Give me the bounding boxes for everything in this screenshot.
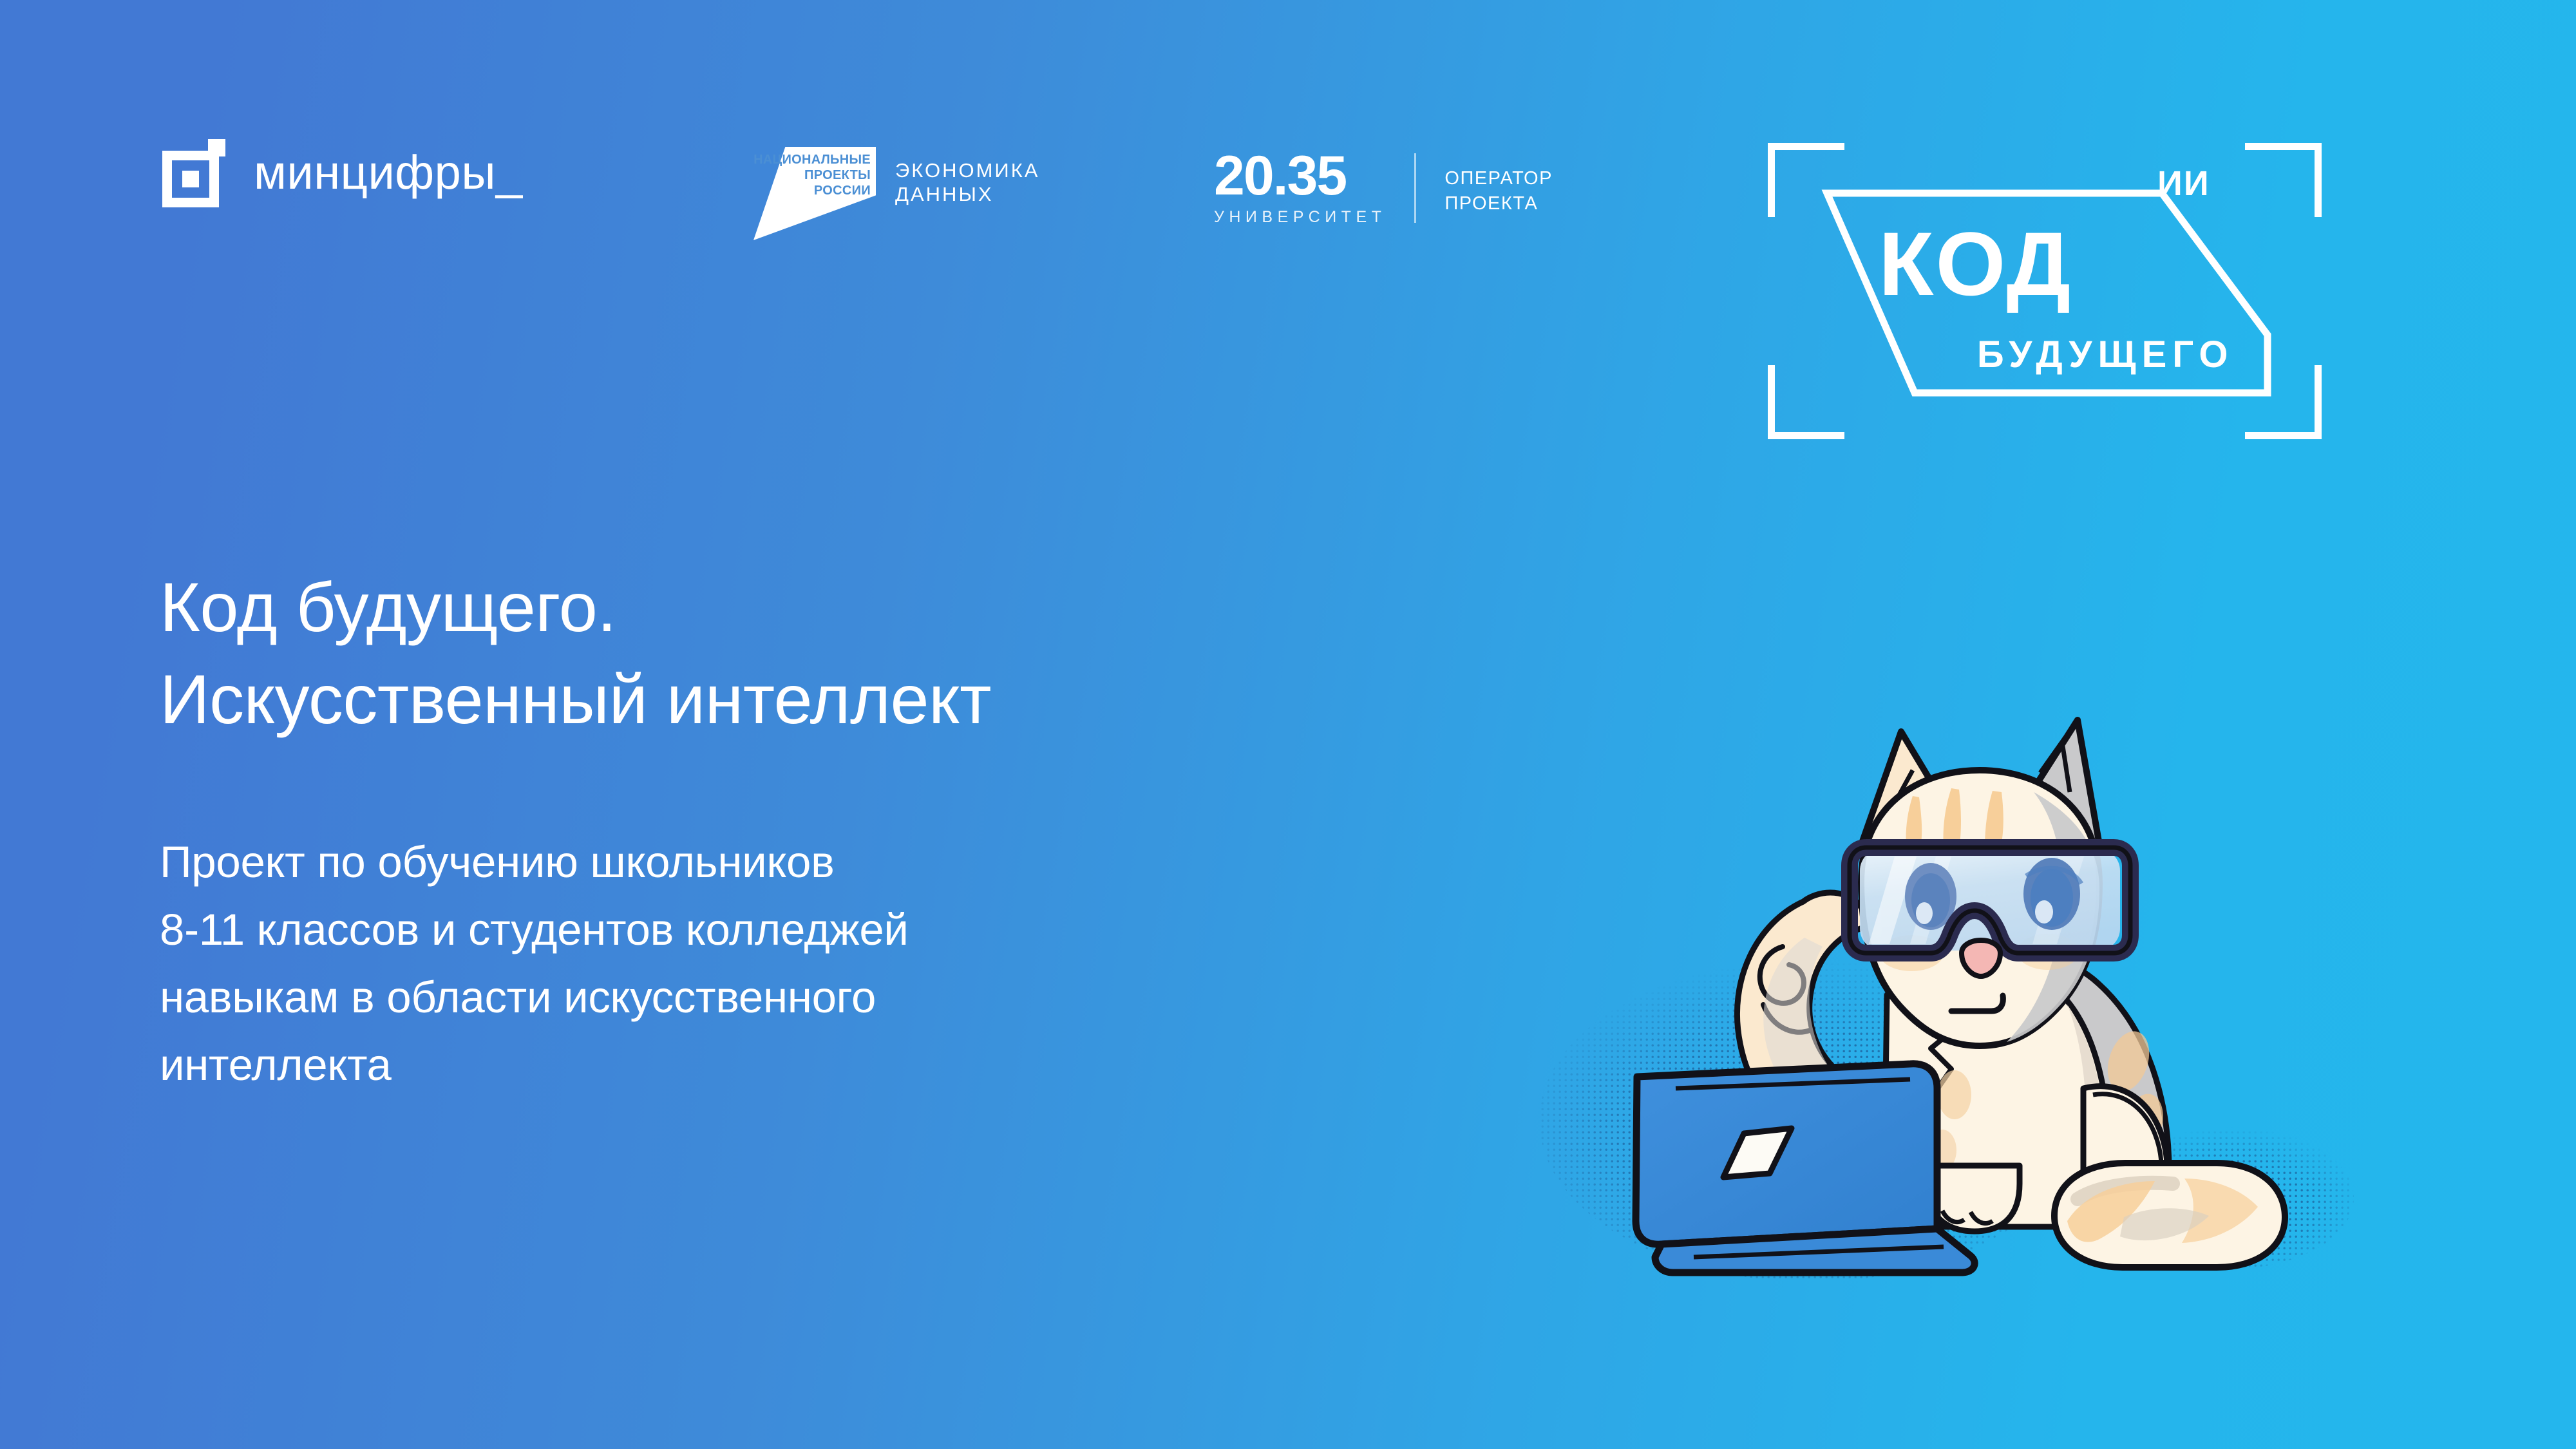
mincifry-square-mark-icon	[162, 139, 229, 206]
logo-divider	[1414, 153, 1416, 223]
university-2035-mark: 20.35 УНИВЕРСИТЕТ	[1214, 151, 1386, 227]
project-operator-caption: ОПЕРАТОР ПРОЕКТА	[1444, 151, 1553, 227]
poster-canvas: минцифры_ НАЦИОНАЛЬНЫЕ ПРОЕКТЫ РОССИИ ЭК…	[0, 0, 2576, 1449]
kod-wordmark: КОД	[1879, 219, 2072, 309]
logo-national-projects[interactable]: НАЦИОНАЛЬНЫЕ ПРОЕКТЫ РОССИИ ЭКОНОМИКА ДА…	[753, 147, 1039, 240]
logo-kod-budushchego[interactable]: КОД БУДУЩЕГО ИИ	[1768, 143, 2322, 439]
economy-of-data-caption: ЭКОНОМИКА ДАННЫХ	[895, 158, 1039, 206]
partner-logo-row: минцифры_ НАЦИОНАЛЬНЫЕ ПРОЕКТЫ РОССИИ ЭК…	[0, 0, 2576, 361]
economy-line-1: ЭКОНОМИКА	[895, 158, 1039, 182]
cat-tail	[2054, 1163, 2285, 1267]
page-title: Код будущего. Искусственный интеллект	[160, 562, 991, 745]
budushchego-wordmark: БУДУЩЕГО	[1977, 336, 2234, 374]
ai-badge: ИИ	[2157, 166, 2210, 201]
mincifry-wordmark: минцифры_	[254, 149, 523, 196]
operator-line-1: ОПЕРАТОР	[1444, 166, 1553, 191]
flag-line-1: НАЦИОНАЛЬНЫЕ	[753, 153, 871, 166]
economy-line-2: ДАННЫХ	[895, 182, 1039, 206]
flag-line-2: ПРОЕКТЫ	[804, 169, 871, 182]
national-projects-flag-icon: НАЦИОНАЛЬНЫЕ ПРОЕКТЫ РОССИИ	[753, 147, 876, 240]
university-2035-subtitle: УНИВЕРСИТЕТ	[1214, 208, 1386, 227]
university-2035-number: 20.35	[1214, 151, 1386, 202]
logo-mincifry[interactable]: минцифры_	[162, 139, 523, 206]
flag-line-3: РОССИИ	[814, 184, 871, 197]
operator-line-2: ПРОЕКТА	[1444, 191, 1553, 216]
laptop-icon	[1636, 1064, 1975, 1273]
page-subtitle: Проект по обучению школьников 8-11 класс…	[160, 829, 909, 1099]
vr-goggles-icon	[1850, 848, 2130, 953]
cat-with-vr-goggles-illustration	[1501, 644, 2363, 1307]
logo-university-2035[interactable]: 20.35 УНИВЕРСИТЕТ ОПЕРАТОР ПРОЕКТА	[1214, 151, 1553, 227]
